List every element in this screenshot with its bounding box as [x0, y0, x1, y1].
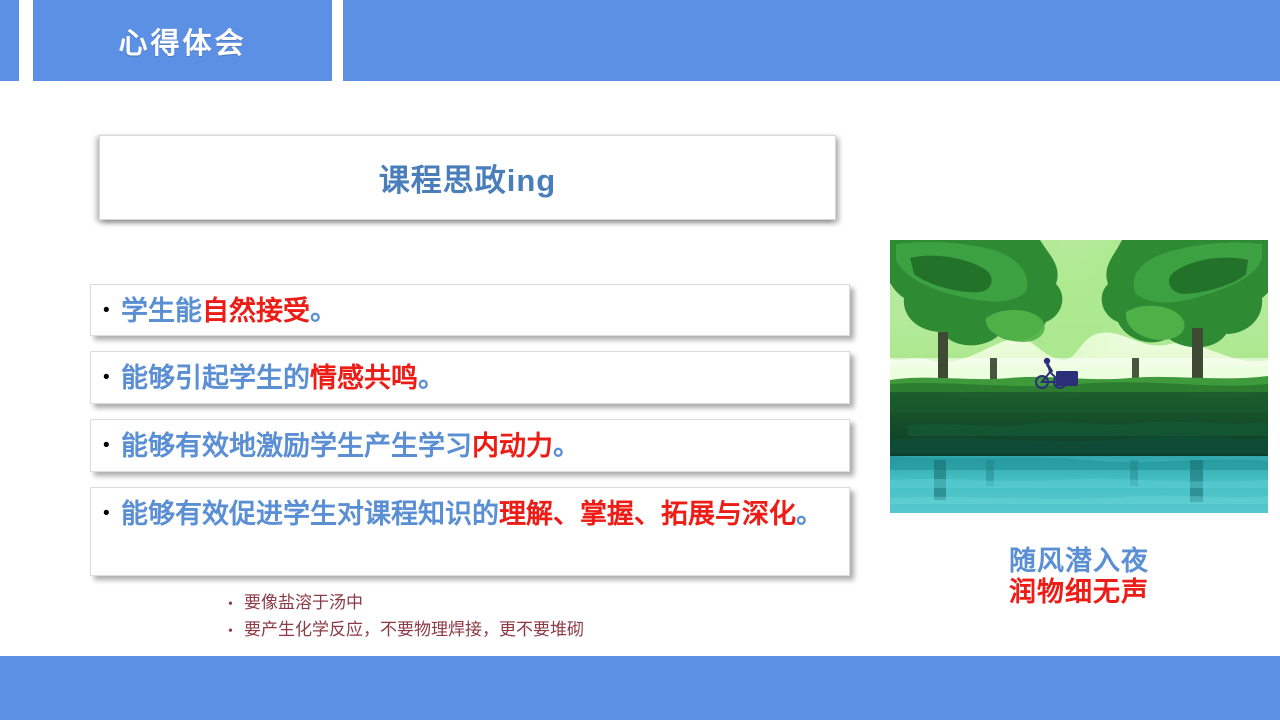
bullet-text: 能够引起学生的情感共鸣。 — [121, 358, 849, 398]
header-band: 心得体会 — [0, 0, 1280, 81]
scene-illustration-icon — [890, 240, 1268, 513]
list-item: • 要产生化学反应，不要物理焊接，更不要堆砌 — [228, 617, 828, 644]
header-title-text: 心得体会 — [118, 20, 246, 62]
header-title-box: 心得体会 — [33, 0, 332, 81]
header-left-accent-block — [0, 0, 19, 81]
scene-caption-line-2: 润物细无声 — [890, 577, 1268, 608]
bullet-text-run-highlight: 自然接受 — [202, 296, 310, 326]
bullet-marker-icon: • — [103, 426, 121, 466]
bullet-text-run-highlight: 内动力 — [472, 431, 553, 461]
bullet-text: 能够有效促进学生对课程知识的理解、掌握、拓展与深化。 — [121, 494, 849, 534]
bullet-text: 能够有效地激励学生产生学习内动力。 — [121, 426, 849, 466]
bullet-text-run-normal: 能够有效促进学生对课程知识的 — [121, 499, 499, 529]
bullet-marker-icon: • — [103, 494, 121, 534]
bullet-text-run-highlight: 情感共鸣 — [310, 363, 418, 393]
scene-caption-line-1: 随风潜入夜 — [890, 546, 1268, 577]
header-wide-bar — [343, 0, 1280, 81]
bullet-text-run-normal: 能够引起学生的 — [121, 363, 310, 393]
bullet-row: • 能够有效地激励学生产生学习内动力。 — [90, 419, 850, 472]
forest-riverside-image — [890, 240, 1268, 513]
slide-title-text: 课程思政ing — [379, 155, 557, 200]
sub-bullet-text: 要产生化学反应，不要物理焊接，更不要堆砌 — [244, 617, 584, 642]
bullet-marker-icon: • — [228, 619, 244, 644]
sub-bullet-list: • 要像盐溶于汤中 • 要产生化学反应，不要物理焊接，更不要堆砌 — [228, 590, 828, 644]
bullet-marker-icon: • — [103, 358, 121, 398]
bullet-row: • 能够引起学生的情感共鸣。 — [90, 351, 850, 404]
bullet-text-run-normal: 。 — [796, 499, 823, 529]
bullet-row: • 学生能自然接受。 — [90, 284, 850, 336]
bullet-text-run-normal: 能够有效地激励学生产生学习 — [121, 431, 472, 461]
sub-bullet-text: 要像盐溶于汤中 — [244, 590, 363, 615]
bullet-text: 学生能自然接受。 — [121, 291, 849, 331]
bullet-text-run-normal: 。 — [310, 296, 337, 326]
bullet-marker-icon: • — [103, 291, 121, 331]
list-item: • 要像盐溶于汤中 — [228, 590, 828, 617]
slide-title-card: 课程思政ing — [99, 135, 836, 220]
scene-caption: 随风潜入夜 润物细无声 — [890, 546, 1268, 608]
bullet-text-run-highlight: 理解、掌握、拓展与深化 — [499, 499, 796, 529]
bullet-text-run-normal: 。 — [418, 363, 445, 393]
footer-band — [0, 656, 1280, 720]
bullet-row: • 能够有效促进学生对课程知识的理解、掌握、拓展与深化。 — [90, 487, 850, 576]
bullet-marker-icon: • — [228, 592, 244, 617]
bullet-text-run-normal: 。 — [553, 431, 580, 461]
bullet-text-run-normal: 学生能 — [121, 296, 202, 326]
